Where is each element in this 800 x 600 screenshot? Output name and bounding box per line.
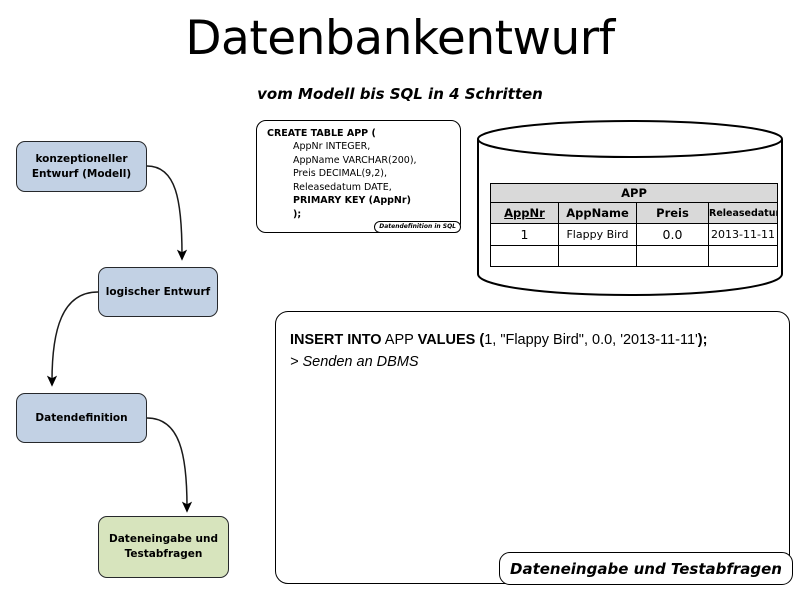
table-name-cell: APP [491, 184, 778, 203]
column-header-releasedatum[interactable]: Releasedatum [709, 203, 778, 224]
insert-statement-line: INSERT INTO APP VALUES (1, "Flappy Bird"… [290, 330, 707, 352]
flow-step-label-line1: konzeptioneller [35, 153, 127, 165]
sql-line-6: ); [293, 209, 301, 220]
column-header-preis[interactable]: Preis [637, 203, 709, 224]
sql-panel-caption: Datendefinition in SQL [374, 221, 461, 233]
sql-create-table-code: CREATE TABLE APP ( AppNr INTEGER, AppNam… [267, 127, 417, 221]
insert-statement-panel[interactable]: INSERT INTO APP VALUES (1, "Flappy Bird"… [275, 311, 790, 584]
flow-step-label: Datendefinition [35, 411, 127, 426]
cell-appnr[interactable]: 1 [491, 224, 559, 246]
flow-step-label-line1: Dateneingabe und [109, 533, 218, 545]
table-row-empty[interactable] [491, 246, 778, 267]
cell-empty-preis[interactable] [637, 246, 709, 267]
cell-empty-appname[interactable] [559, 246, 637, 267]
sql-line-1: AppNr INTEGER, [293, 141, 370, 152]
insert-panel-caption: Dateneingabe und Testabfragen [499, 552, 793, 585]
flow-step-label-line2: Entwurf (Modell) [32, 168, 131, 180]
arrow-step2-step3 [52, 292, 98, 381]
flow-step-label: Dateneingabe und Testabfragen [109, 532, 218, 562]
arrow-step3-step4 [147, 418, 187, 507]
insert-statement-code: INSERT INTO APP VALUES (1, "Flappy Bird"… [290, 330, 707, 374]
insert-close-paren: ); [698, 332, 708, 348]
cell-empty-releasedatum[interactable] [709, 246, 778, 267]
insert-values-list: 1, "Flappy Bird", 0.0, '2013-11-11' [484, 332, 698, 348]
flow-step-label: logischer Entwurf [106, 285, 210, 300]
page-title: Datenbankentwurf [0, 14, 800, 63]
arrow-step1-step2 [147, 166, 182, 255]
sql-line-4: Releasedatum DATE, [293, 182, 392, 193]
flow-step-dateneingabe-testabfragen[interactable]: Dateneingabe und Testabfragen [98, 516, 229, 578]
sql-line-3: Preis DECIMAL(9,2), [293, 168, 387, 179]
flow-step-konzeptioneller-entwurf[interactable]: konzeptioneller Entwurf (Modell) [16, 141, 147, 192]
table-header-row: AppNr AppName Preis Releasedatum [491, 203, 778, 224]
flow-step-datendefinition[interactable]: Datendefinition [16, 393, 147, 443]
sql-create-table-panel[interactable]: CREATE TABLE APP ( AppNr INTEGER, AppNam… [256, 120, 461, 233]
insert-keyword-values: VALUES [418, 332, 476, 348]
column-header-appname[interactable]: AppName [559, 203, 637, 224]
page-subtitle: vom Modell bis SQL in 4 Schritten [0, 85, 800, 103]
insert-target-table: APP [382, 332, 418, 348]
insert-prompt-line: > Senden an DBMS [290, 352, 707, 374]
sql-line-0: CREATE TABLE APP ( [267, 128, 376, 139]
slide-canvas: Datenbankentwurf vom Modell bis SQL in 4… [0, 0, 800, 600]
sql-line-5: PRIMARY KEY (AppNr) [293, 195, 411, 206]
table-title-row: APP [491, 184, 778, 203]
app-data-table[interactable]: APP AppNr AppName Preis Releasedatum 1 F… [490, 183, 778, 267]
flow-step-label-line2: Testabfragen [125, 548, 203, 560]
column-header-appnr[interactable]: AppNr [491, 203, 559, 224]
insert-open-paren: ( [475, 332, 484, 348]
cell-empty-appnr[interactable] [491, 246, 559, 267]
table-row[interactable]: 1 Flappy Bird 0.0 2013-11-11 [491, 224, 778, 246]
cell-appname[interactable]: Flappy Bird [559, 224, 637, 246]
flow-step-logischer-entwurf[interactable]: logischer Entwurf [98, 267, 218, 317]
sql-line-2: AppName VARCHAR(200), [293, 155, 417, 166]
flow-step-label: konzeptioneller Entwurf (Modell) [32, 152, 131, 182]
insert-keyword-insert-into: INSERT INTO [290, 332, 382, 348]
cell-releasedatum[interactable]: 2013-11-11 [709, 224, 778, 246]
cell-preis[interactable]: 0.0 [637, 224, 709, 246]
